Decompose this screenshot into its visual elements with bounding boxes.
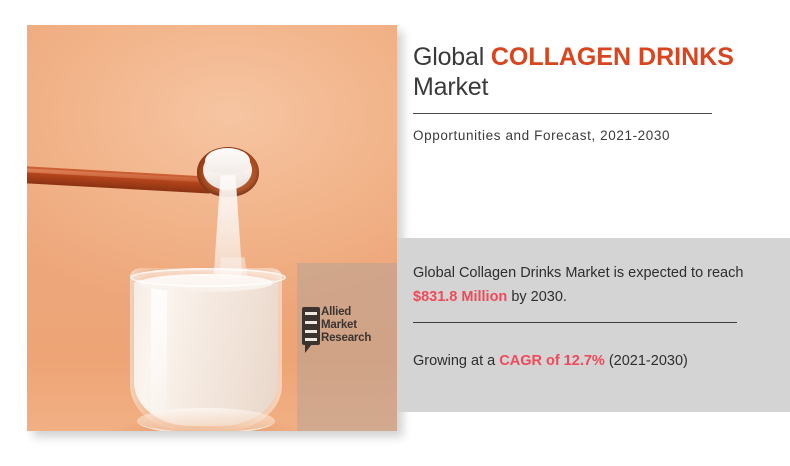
- logo-line-3: Research: [321, 332, 371, 345]
- market-value-figure: $831.8 Million: [413, 289, 507, 305]
- logo-line-2: Market: [321, 319, 371, 332]
- report-subtitle: Opportunities and Forecast, 2021-2030: [413, 128, 670, 143]
- collagen-powder-mound: [205, 148, 250, 174]
- market-value-statement: Global Collagen Drinks Market is expecte…: [413, 261, 758, 309]
- title-prefix: Global: [413, 43, 484, 71]
- product-photo: [27, 25, 397, 431]
- cagr-figure: CAGR of 12.7%: [499, 353, 605, 369]
- title-highlight: COLLAGEN DRINKS: [491, 43, 734, 71]
- allied-market-research-logo: Allied Market Research: [302, 307, 388, 355]
- header-divider: [413, 113, 712, 114]
- glass-rim: [130, 268, 286, 287]
- logo-bar: [305, 321, 317, 324]
- stats-divider: [413, 322, 737, 323]
- speech-bubble-icon: [302, 307, 320, 345]
- cagr-lead: Growing at a: [413, 353, 499, 369]
- cagr-trail: (2021-2030): [605, 353, 688, 369]
- cagr-statement: Growing at a CAGR of 12.7% (2021-2030): [413, 350, 773, 372]
- market-value-lead: Global Collagen Drinks Market is expecte…: [413, 265, 743, 281]
- infographic-root: Allied Market Research Global COLLAGEN D…: [0, 0, 790, 466]
- glass-base: [137, 408, 275, 431]
- logo-bar: [305, 338, 317, 341]
- logo-bar: [305, 312, 317, 315]
- page-title: Global COLLAGEN DRINKS: [413, 42, 758, 72]
- market-value-trail: by 2030.: [507, 289, 567, 305]
- collagen-drink-liquid: [134, 280, 278, 426]
- title-suffix: Market: [413, 72, 758, 102]
- logo-line-1: Allied: [321, 306, 371, 319]
- logo-bar: [305, 330, 317, 333]
- logo-text: Allied Market Research: [321, 306, 371, 345]
- report-title-block: Global COLLAGEN DRINKS Market: [413, 42, 758, 102]
